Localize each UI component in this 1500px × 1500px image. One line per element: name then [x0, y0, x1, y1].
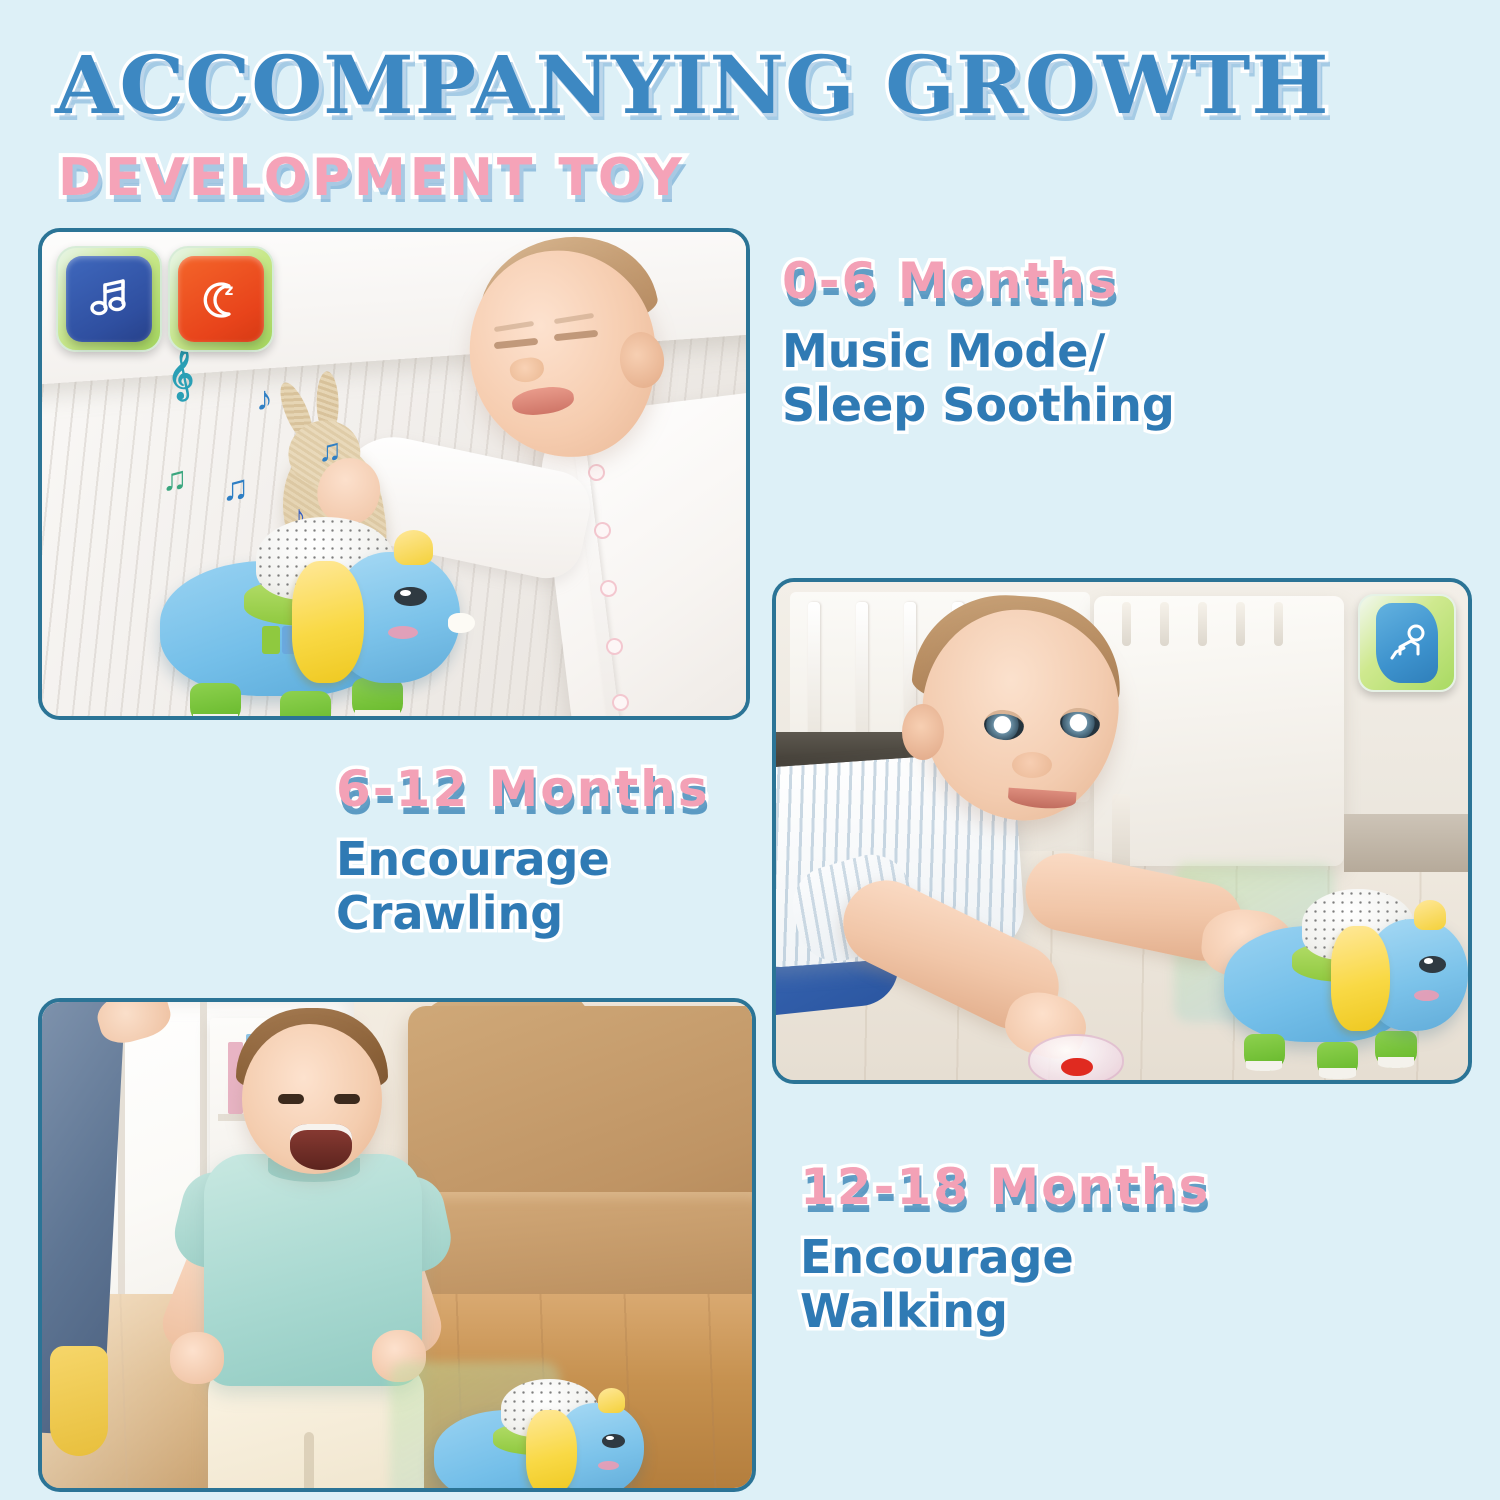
stage-text-2: 12-18 Months Encourage Walking [800, 1158, 1210, 1339]
page-subtitle: DEVELOPMENT TOY [58, 148, 686, 208]
baby-ear [902, 704, 944, 760]
toy-foot [190, 683, 241, 716]
toy-horn [1414, 900, 1446, 930]
toddler-eye [334, 1094, 360, 1104]
stage-text-1: 6-12 Months Encourage Crawling [336, 760, 710, 941]
elephant-projector-toy [160, 504, 460, 716]
crib-leg [1112, 794, 1130, 872]
photo-sleeping-baby: 𝄞♪♫♫♫♪♪♫♪♪ [42, 232, 746, 716]
baby-nose [1012, 752, 1052, 778]
music-mode-badge[interactable] [56, 246, 162, 352]
crawling-baby-icon [1384, 620, 1430, 666]
crib-panel-right [1094, 596, 1344, 866]
page-title: ACCOMPANYING GROWTH [55, 38, 1329, 132]
toy-eye [602, 1434, 625, 1448]
piano-key[interactable] [262, 626, 280, 654]
toy-ear [292, 561, 364, 683]
toy-foot [1244, 1034, 1285, 1071]
music-badge-face [66, 256, 152, 342]
elephant-projector-toy [434, 1370, 644, 1488]
toy-foot [1317, 1042, 1358, 1079]
toy-tusk [448, 613, 475, 633]
desc-line-1: Encourage [336, 832, 710, 886]
photo-walking-toddler [42, 1002, 752, 1488]
photo-panel-sleeping-baby: 𝄞♪♫♫♫♪♪♫♪♪ [38, 228, 750, 720]
desc-line-2: Sleep Soothing [782, 378, 1175, 432]
stage-description-1: Encourage Crawling [336, 832, 710, 941]
infographic-canvas: ACCOMPANYING GROWTH DEVELOPMENT TOY 0-6 … [0, 0, 1500, 1500]
music-note-icon [85, 275, 133, 323]
toddler-leg-gap [304, 1432, 314, 1488]
age-label-1: 6-12 Months [336, 760, 710, 818]
toy-cheek [1414, 990, 1438, 1001]
stage-description-0: Music Mode/ Sleep Soothing [782, 324, 1175, 433]
stage-text-0: 0-6 Months Music Mode/ Sleep Soothing [782, 252, 1175, 433]
toy-ear [526, 1410, 576, 1488]
toy-ear [1331, 926, 1390, 1030]
toy-foot [280, 691, 331, 716]
stage-description-2: Encourage Walking [800, 1230, 1210, 1339]
toy-eye [1419, 956, 1446, 973]
desc-line-2: Walking [800, 1284, 1210, 1338]
rattle-ball-toy[interactable] [1028, 1034, 1124, 1080]
age-label-0: 0-6 Months [782, 252, 1175, 310]
crawl-badge-face [1376, 603, 1438, 683]
elephant-projector-toy [1224, 878, 1468, 1064]
yellow-toy [50, 1346, 108, 1456]
photo-crawling-baby [776, 582, 1468, 1080]
age-label-2: 12-18 Months [800, 1158, 1210, 1216]
svg-text:z: z [225, 281, 234, 299]
sleep-mode-badge[interactable]: z [168, 246, 274, 352]
photo-panel-walking-toddler [38, 998, 756, 1492]
toddler-mouth [290, 1124, 352, 1170]
toy-foot [352, 678, 403, 716]
toy-foot [1375, 1031, 1416, 1068]
moon-sleep-icon: z [196, 274, 246, 324]
photo-panel-crawling-baby [772, 578, 1472, 1084]
toddler-fist-left [170, 1332, 224, 1384]
desc-line-1: Encourage [800, 1230, 1210, 1284]
crawl-mode-badge[interactable] [1358, 594, 1456, 692]
toddler-eye [278, 1094, 304, 1104]
desc-line-2: Crawling [336, 886, 710, 940]
toy-horn [598, 1388, 625, 1412]
sleep-badge-face: z [178, 256, 264, 342]
toy-horn [394, 530, 433, 565]
desc-line-1: Music Mode/ [782, 324, 1175, 378]
baseboard [1344, 814, 1468, 872]
